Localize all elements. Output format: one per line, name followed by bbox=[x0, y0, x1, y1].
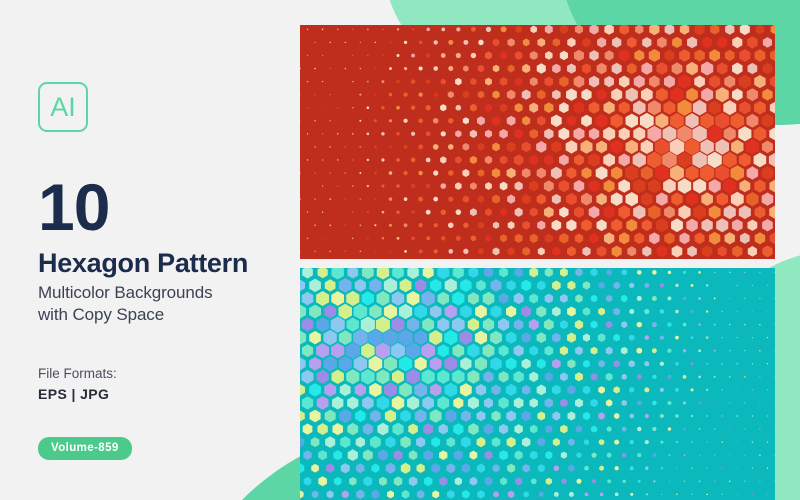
file-formats-label: File Formats: bbox=[38, 364, 298, 384]
teal-hexagon-pattern bbox=[300, 268, 775, 500]
poster-canvas: AI 10 Hexagon Pattern Multicolor Backgro… bbox=[0, 0, 800, 500]
subtitle-line-2: with Copy Space bbox=[38, 304, 298, 326]
subtitle: Multicolor Backgrounds with Copy Space bbox=[38, 282, 298, 326]
red-hexagon-panel bbox=[300, 25, 775, 259]
info-column: AI 10 Hexagon Pattern Multicolor Backgro… bbox=[38, 82, 298, 460]
ai-format-icon: AI bbox=[38, 82, 88, 132]
teal-hexagon-panel bbox=[300, 268, 775, 500]
subtitle-line-1: Multicolor Backgrounds bbox=[38, 282, 298, 304]
ai-format-label: AI bbox=[50, 94, 76, 121]
file-formats-value: EPS | JPG bbox=[38, 384, 298, 405]
item-count: 10 bbox=[38, 176, 298, 239]
red-hexagon-pattern bbox=[300, 25, 775, 259]
volume-badge: Volume-859 bbox=[38, 437, 132, 460]
page-title: Hexagon Pattern bbox=[38, 249, 298, 277]
file-formats: File Formats: EPS | JPG bbox=[38, 364, 298, 405]
